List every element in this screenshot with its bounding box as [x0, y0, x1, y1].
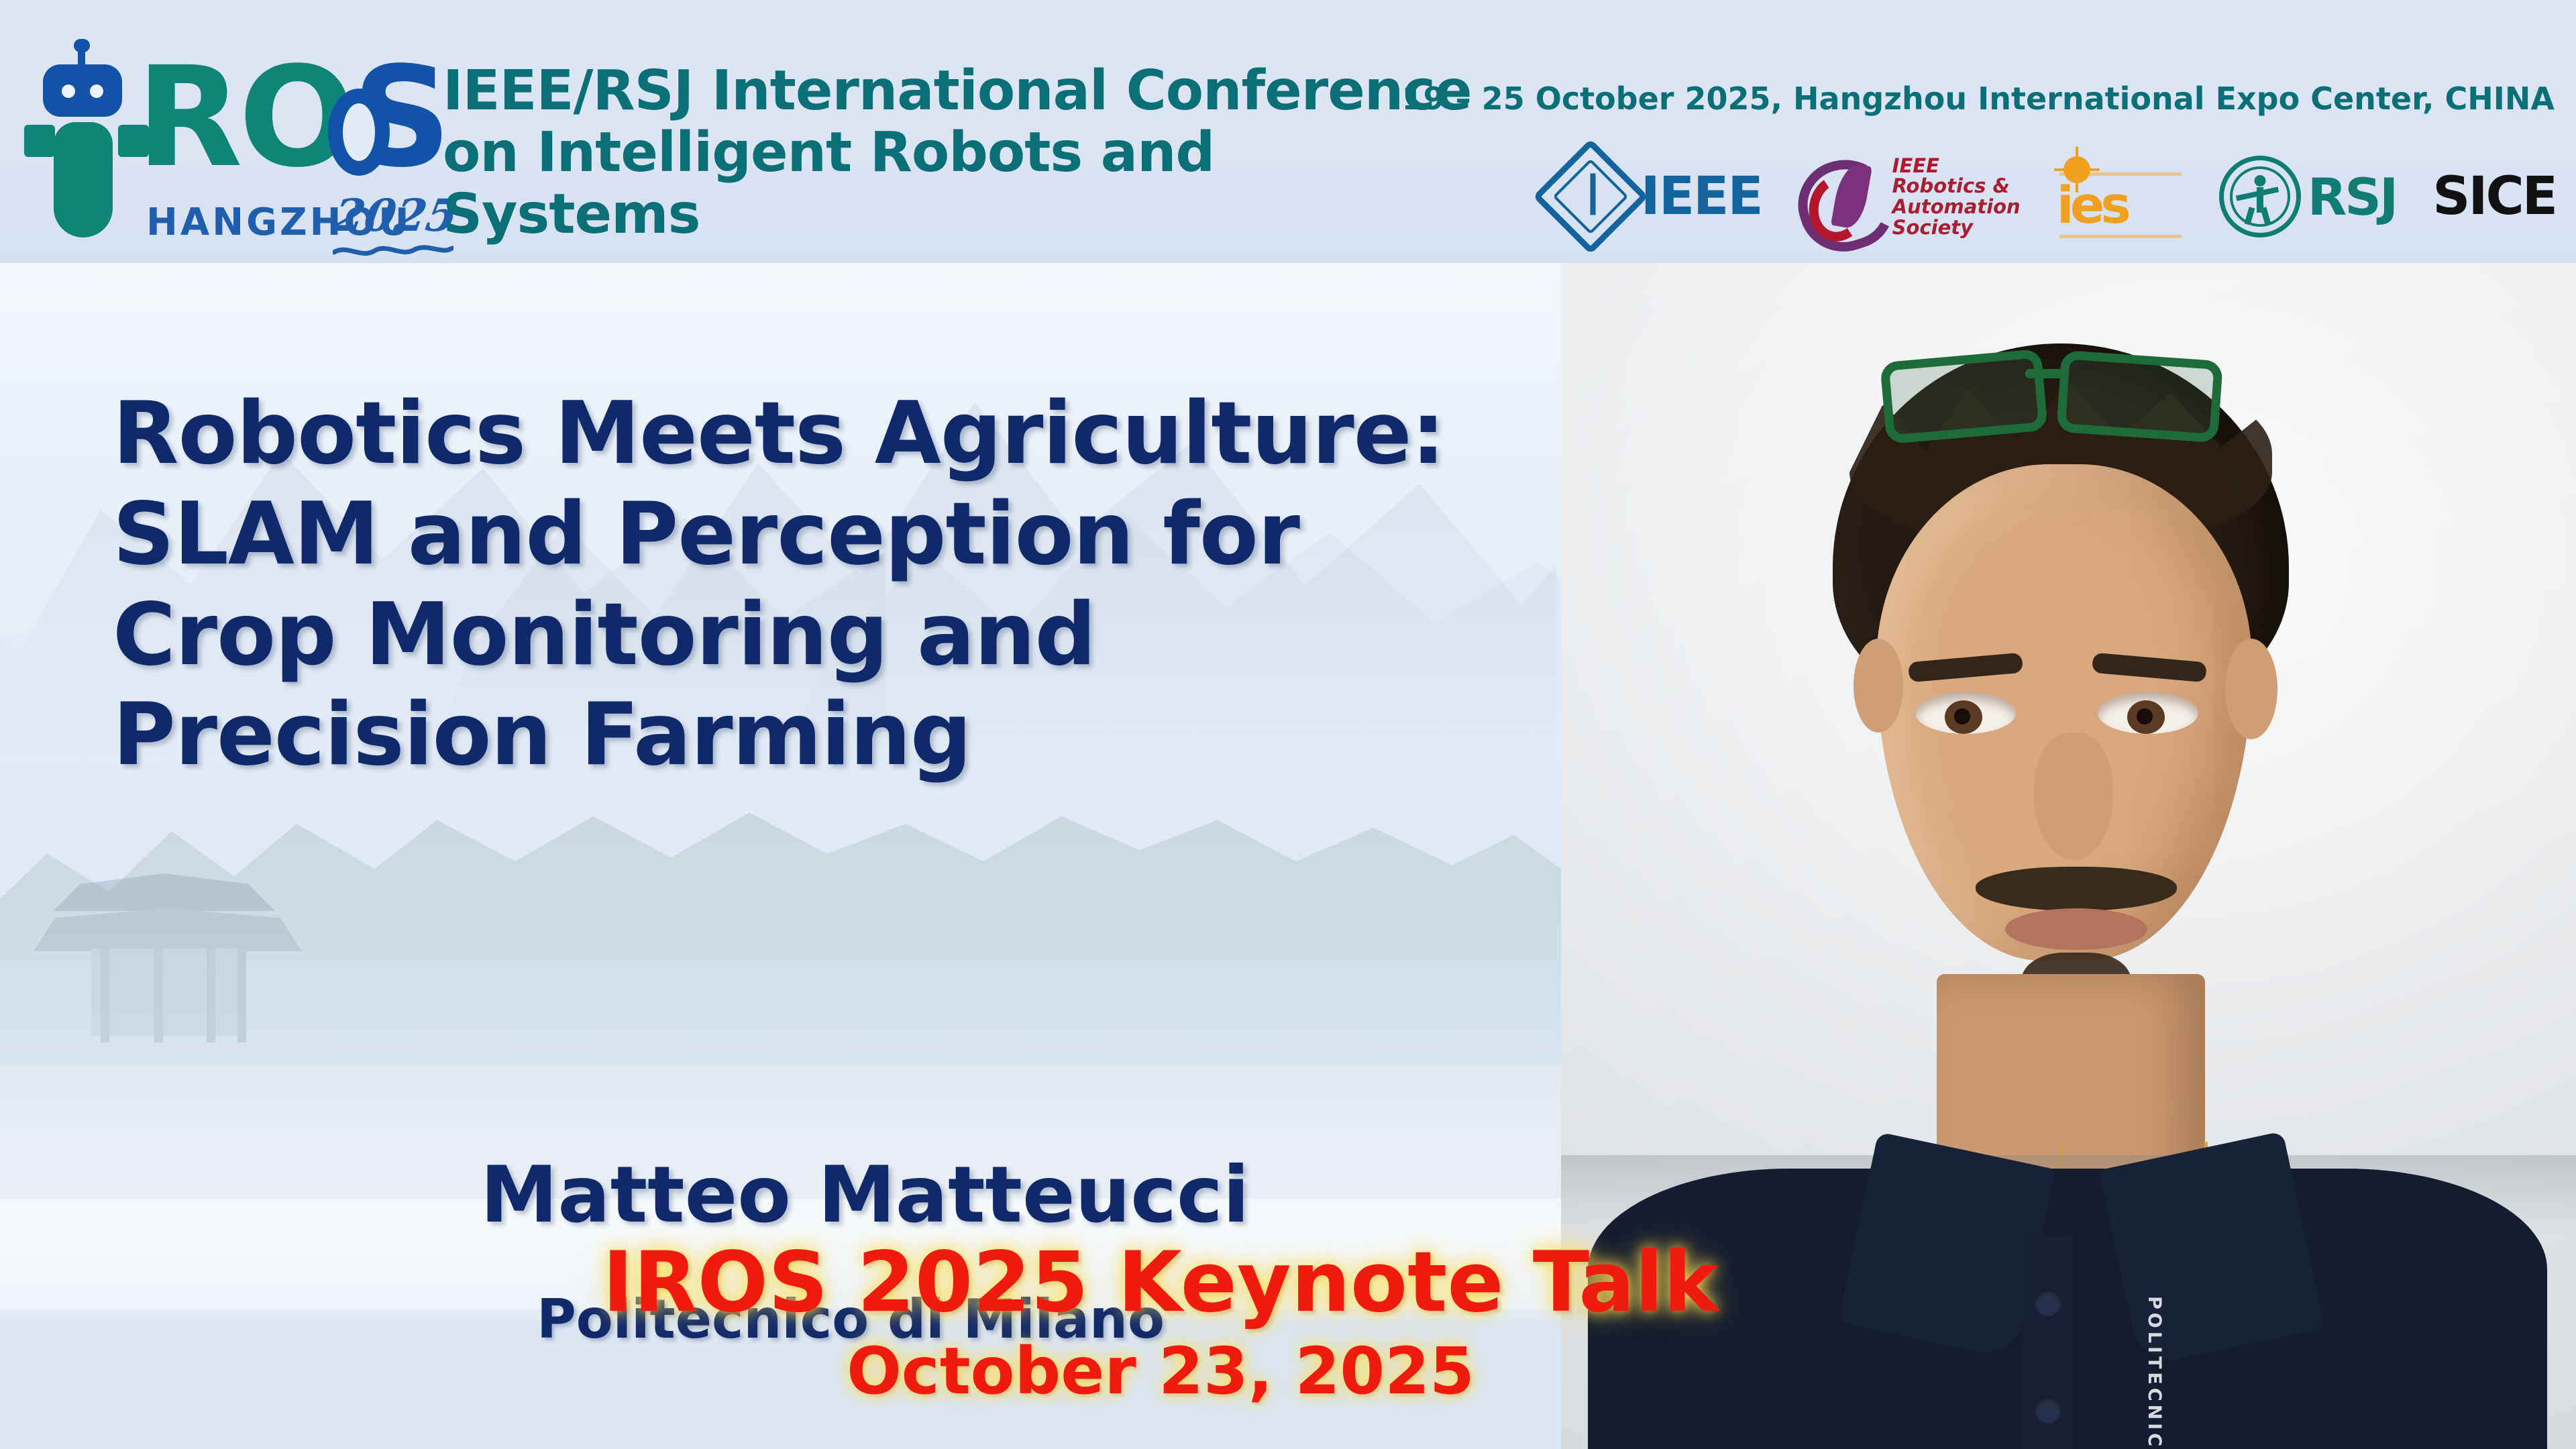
rsj-wordmark: RSJ — [2308, 167, 2397, 227]
robot-body-icon — [54, 122, 113, 237]
ras-line-3: Automation — [1892, 197, 2021, 217]
conference-title-line-2: on Intelligent Robots and Systems — [443, 122, 1489, 246]
talk-title-line-2: SLAM and Perception for — [113, 484, 1488, 585]
portrait-eye-left — [1915, 692, 2016, 734]
sice-logo: SICE — [2432, 166, 2556, 227]
conference-title: IEEE/RSJ International Conference on Int… — [443, 60, 1489, 245]
keynote-slide: ROS HANGZHOU 2025 IEEE/RSJ International… — [0, 0, 2576, 1449]
robot-head-icon — [43, 64, 122, 117]
portrait-lips — [2005, 908, 2147, 950]
iros-logo: ROS HANGZHOU 2025 — [19, 30, 401, 244]
speaker-name: Matteo Matteucci — [480, 1150, 1250, 1240]
portrait-moustache — [1976, 867, 2177, 911]
portrait-iris-left — [1945, 700, 1982, 734]
pavilion-column — [101, 949, 109, 1042]
robot-eye-right-icon — [90, 85, 103, 98]
sice-wordmark: SICE — [2432, 166, 2556, 227]
ras-line-1: IEEE — [1892, 156, 2021, 176]
ieee-diamond-icon — [1533, 139, 1649, 255]
rsj-emblem-icon — [2219, 156, 2301, 237]
keynote-label: IROS 2025 Keynote Talk — [602, 1234, 1719, 1331]
rsj-figure-head — [2254, 175, 2265, 186]
wave-icon — [333, 243, 453, 258]
ieee-logo: IEEE — [1550, 156, 1762, 237]
talk-title-line-3: Crop Monitoring and — [113, 585, 1488, 686]
ras-wordmark: IEEE Robotics & Automation Society — [1892, 156, 2021, 238]
portrait-ear-left — [1854, 639, 1903, 733]
pavilion-roof-lower — [34, 908, 302, 951]
conference-title-line-1: IEEE/RSJ International Conference — [443, 59, 1471, 123]
iros-wordmark: ROS — [136, 48, 447, 186]
talk-title-line-4: Precision Farming — [113, 685, 1488, 786]
pavilion-column — [237, 949, 246, 1042]
conference-dates-venue: 19 – 25 October 2025, Hangzhou Internati… — [1402, 80, 2555, 117]
keynote-date: October 23, 2025 — [847, 1334, 1474, 1409]
robot-eye-left-icon — [62, 85, 75, 98]
pavilion-wall — [91, 949, 246, 1036]
ras-line-2: Robotics & — [1892, 176, 2021, 197]
sunglasses-icon — [1883, 352, 2232, 432]
pavilion-roof-upper — [54, 873, 275, 911]
pavilion-column — [154, 949, 163, 1042]
sunglasses-bridge — [2025, 369, 2067, 378]
sunglasses-lens-right — [2056, 350, 2223, 443]
iros-logo-year: 2025 — [329, 189, 462, 241]
portrait-eye-right — [2098, 692, 2198, 734]
sunglasses-lens-left — [1880, 349, 2048, 445]
portrait-shirt-button — [2035, 1397, 2061, 1424]
iros-letter-o-counter — [328, 89, 390, 176]
ieee-wordmark: IEEE — [1641, 166, 1762, 227]
ies-mark-icon: ies — [2057, 158, 2183, 235]
portrait-iris-right — [2127, 700, 2165, 734]
ras-swirl-icon — [1799, 157, 1884, 236]
pavilion-building — [27, 867, 376, 1068]
portrait-ear-right — [2225, 639, 2277, 739]
ras-line-4: Society — [1892, 217, 2021, 238]
ieee-ras-logo: IEEE Robotics & Automation Society — [1799, 156, 2021, 238]
shirt-embroidery-text: POLITECNICO DI MILANO — [2144, 1296, 2165, 1449]
rsj-logo: RSJ — [2219, 156, 2397, 237]
portrait-shirt-button — [2035, 1289, 2061, 1316]
portrait-nose — [2034, 733, 2113, 860]
conference-header-band: ROS HANGZHOU 2025 IEEE/RSJ International… — [0, 0, 2576, 263]
sponsor-logos: IEEE IEEE Robotics & Automation Society — [1550, 146, 2556, 247]
talk-title-line-1: Robotics Meets Agriculture: — [113, 384, 1488, 484]
talk-title: Robotics Meets Agriculture: SLAM and Per… — [113, 384, 1488, 786]
ies-wordmark: ies — [2057, 175, 2127, 235]
iros-letter-r: R — [136, 37, 239, 198]
ieee-ies-logo: ies — [2057, 158, 2183, 235]
ies-rule-bottom — [2059, 235, 2182, 238]
ieee-diamond-bar — [1590, 173, 1595, 215]
robot-arm-left-icon — [24, 125, 55, 157]
pavilion-column — [207, 949, 215, 1042]
